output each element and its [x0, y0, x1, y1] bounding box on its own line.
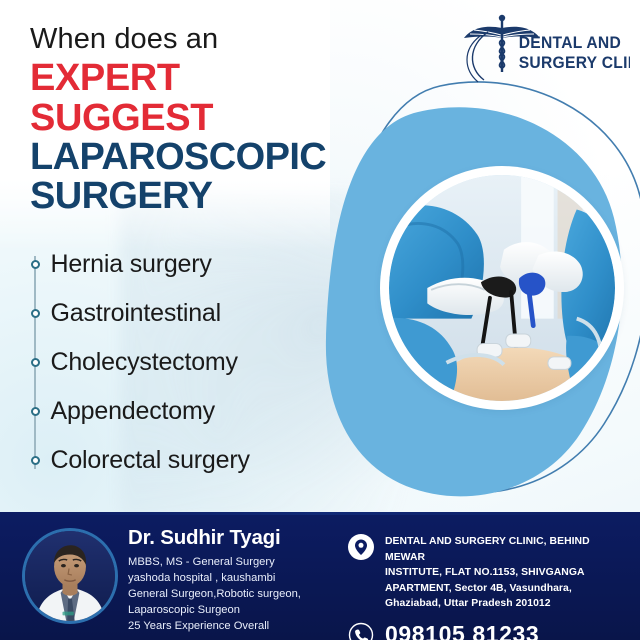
- credential-line: 25 Years Experience Overall: [128, 619, 333, 635]
- phone-row[interactable]: 098105 81233: [348, 621, 628, 640]
- clinic-logo: DENTAL AND SURGERY CLINIC: [458, 6, 630, 84]
- contact-block: DENTAL AND SURGERY CLINIC, BEHIND MEWAR …: [348, 534, 628, 640]
- surgery-photo-frame: [384, 170, 620, 406]
- list-item: Appendectomy: [28, 387, 348, 436]
- bullet-dot-icon: [31, 358, 40, 367]
- phone-icon: [348, 622, 374, 640]
- list-item-label: Colorectal surgery: [51, 446, 250, 475]
- list-item-label: Hernia surgery: [51, 250, 212, 279]
- list-item-label: Cholecystectomy: [51, 348, 238, 377]
- list-item: Colorectal surgery: [28, 436, 348, 485]
- list-item-label: Appendectomy: [51, 397, 215, 426]
- credential-line: General Surgeon,Robotic surgeon,: [128, 587, 333, 603]
- footer-bar: Dr. Sudhir Tyagi MBBS, MS - General Surg…: [0, 512, 640, 640]
- address-line: DENTAL AND SURGERY CLINIC, BEHIND MEWAR: [385, 534, 628, 565]
- clinic-address: DENTAL AND SURGERY CLINIC, BEHIND MEWAR …: [385, 534, 628, 612]
- headline-block: When does an EXPERT SUGGEST LAPAROSCOPIC…: [30, 24, 360, 216]
- map-pin-icon: [348, 534, 374, 560]
- address-row: DENTAL AND SURGERY CLINIC, BEHIND MEWAR …: [348, 534, 628, 612]
- surgery-photo: [389, 175, 615, 401]
- bullet-dot-icon: [31, 260, 40, 269]
- headline-line-2: EXPERT: [30, 59, 360, 98]
- list-item-label: Gastrointestinal: [51, 299, 222, 328]
- avatar: [22, 528, 118, 624]
- credential-line: MBBS, MS - General Surgery: [128, 555, 333, 571]
- address-line: Ghaziabad, Uttar Pradesh 201012: [385, 596, 628, 612]
- headline-line-1: When does an: [30, 24, 360, 54]
- logo-line1: DENTAL AND: [519, 33, 621, 52]
- footer-top-accent: [0, 512, 640, 515]
- list-item: Cholecystectomy: [28, 338, 348, 387]
- headline-line-3: SUGGEST: [30, 99, 360, 138]
- headline-line-4: LAPAROSCOPIC: [30, 138, 360, 177]
- bullet-dot-icon: [31, 407, 40, 416]
- headline-line-5: SURGERY: [30, 177, 360, 216]
- list-item: Gastrointestinal: [28, 289, 348, 338]
- credential-line: Laparoscopic Surgeon: [128, 603, 333, 619]
- doctor-info: Dr. Sudhir Tyagi MBBS, MS - General Surg…: [128, 526, 333, 635]
- procedure-list: Hernia surgery Gastrointestinal Cholecys…: [28, 240, 348, 485]
- doctor-credentials: MBBS, MS - General Surgery yashoda hospi…: [128, 555, 333, 635]
- phone-number[interactable]: 098105 81233: [385, 621, 539, 640]
- list-item: Hernia surgery: [28, 240, 348, 289]
- poster-canvas: DENTAL AND SURGERY CLINIC When does an E…: [0, 0, 640, 640]
- credential-line: yashoda hospital , kaushambi: [128, 571, 333, 587]
- address-line: INSTITUTE, FLAT NO.1153, SHIVGANGA: [385, 565, 628, 581]
- bullet-dot-icon: [31, 309, 40, 318]
- doctor-name: Dr. Sudhir Tyagi: [128, 526, 333, 550]
- bullet-dot-icon: [31, 456, 40, 465]
- logo-line2: SURGERY CLINIC: [519, 53, 630, 72]
- address-line: APARTMENT, Sector 4B, Vasundhara,: [385, 581, 628, 597]
